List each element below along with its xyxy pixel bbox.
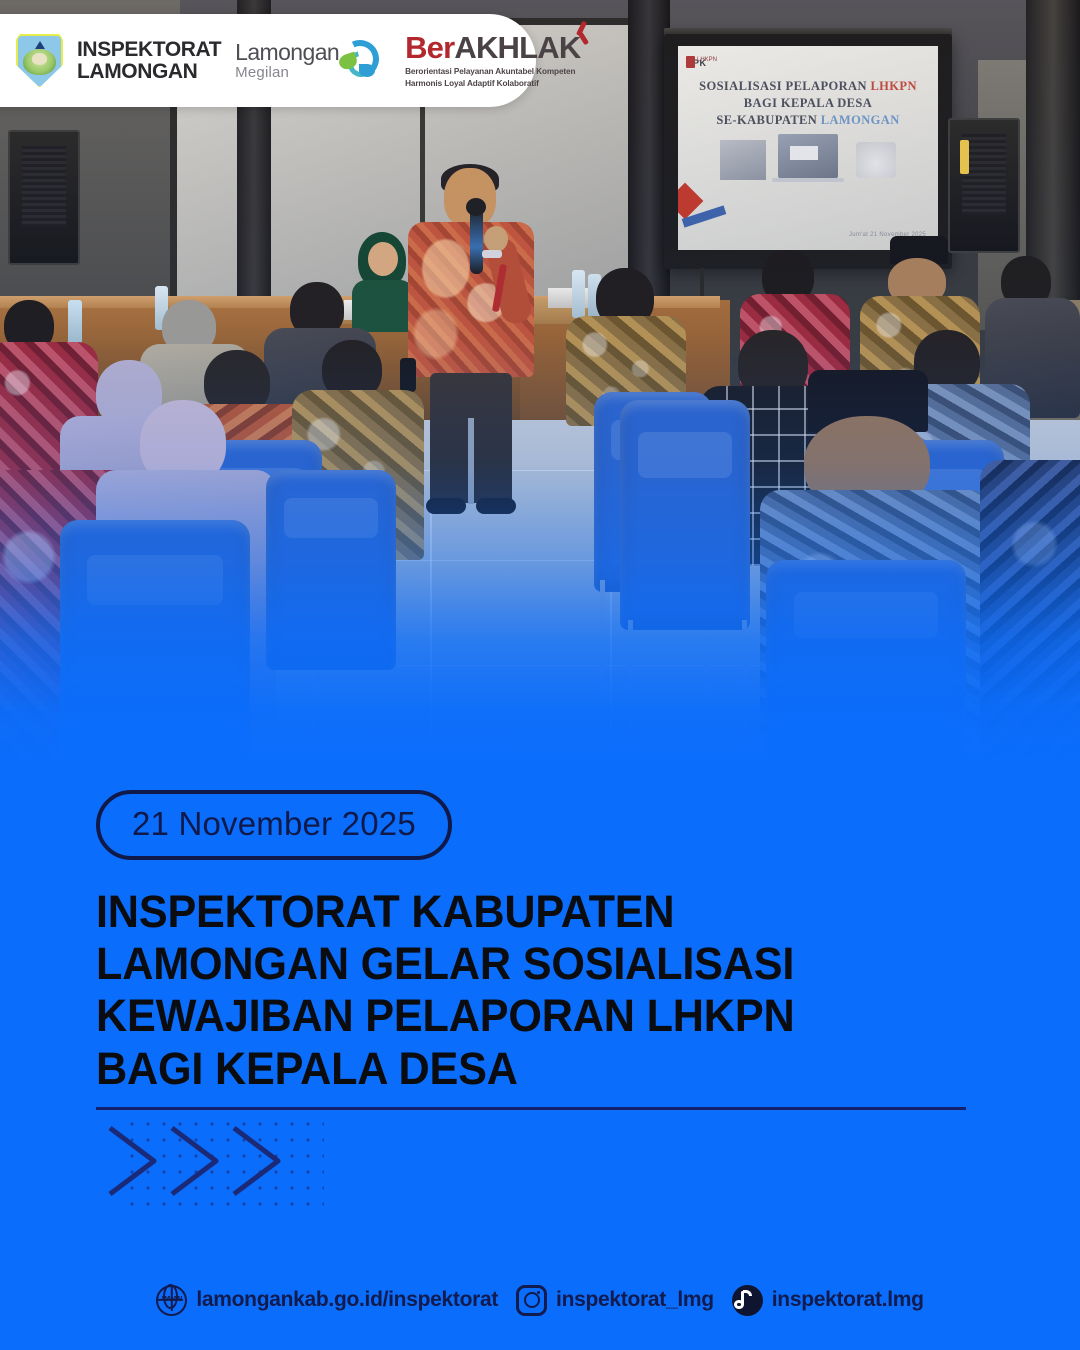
- lamongan-tagline: Megilan: [235, 65, 339, 80]
- triple-chevron-right-icon: [104, 1120, 334, 1202]
- slide-title-l3b: LAMONGAN: [821, 113, 900, 127]
- lamongan-megilan-logo: Lamongan Megilan: [235, 38, 383, 84]
- instagram-label: inspektorat_lmg: [556, 1288, 714, 1312]
- berakhlak-sub-line-1: Berorientasi Pelayanan Akuntabel Kompete…: [405, 66, 580, 77]
- footer-item-tiktok[interactable]: inspektorat.lmg: [732, 1285, 924, 1316]
- projector-screen: KPK LHKPN SOSIALISASI PELAPORAN LHKPN BA…: [678, 46, 938, 250]
- slide-title-l1b: LHKPN: [870, 79, 916, 93]
- speaker-box-right: [948, 118, 1020, 253]
- headline-line-4: BAGI KEPALA DESA: [96, 1043, 960, 1095]
- brand-header-card: INSPEKTORAT LAMONGAN Lamongan Megilan Be…: [0, 14, 536, 107]
- social-footer: WWW lamongankab.go.id/inspektorat inspek…: [0, 1278, 1080, 1322]
- lamongan-regency-emblem-icon: [16, 34, 63, 88]
- poster-canvas: KPK LHKPN SOSIALISASI PELAPORAN LHKPN BA…: [0, 0, 1080, 1350]
- slide-title: SOSIALISASI PELAPORAN LHKPN BAGI KEPALA …: [678, 78, 938, 129]
- berakhlak-logo: BerAKHLAK Berorientasi Pelayanan Akuntab…: [405, 32, 580, 88]
- instagram-icon: [516, 1285, 547, 1316]
- check-tick-icon: [579, 21, 596, 42]
- inspektorat-wordmark: INSPEKTORAT LAMONGAN: [77, 39, 221, 82]
- audience-member: [566, 268, 686, 408]
- headline-block: 21 November 2025 INSPEKTORAT KABUPATEN L…: [0, 790, 1080, 1095]
- event-photo: KPK LHKPN SOSIALISASI PELAPORAN LHKPN BA…: [0, 0, 1080, 800]
- tiktok-icon: [732, 1285, 763, 1316]
- lamongan-name: Lamongan: [235, 41, 339, 64]
- tiktok-label: inspektorat.lmg: [772, 1288, 924, 1312]
- date-badge: 21 November 2025: [96, 790, 452, 860]
- slide-title-l2: BAGI KEPALA DESA: [744, 96, 872, 110]
- headline-line-2: LAMONGAN GELAR SOSIALISASI: [96, 938, 960, 990]
- slide-logo-lhkpn: LHKPN: [697, 57, 717, 63]
- footer-item-website[interactable]: WWW lamongankab.go.id/inspektorat: [156, 1285, 498, 1316]
- headline-line-3: KEWAJIBAN PELAPORAN LHKPN: [96, 990, 960, 1042]
- lamongan-wave-fish-logo-icon: [337, 38, 383, 84]
- main-speaker: [408, 168, 534, 518]
- inspektorat-line-2: LAMONGAN: [77, 61, 221, 83]
- berakhlak-part-2: AKHLAK: [454, 30, 580, 65]
- website-label: lamongankab.go.id/inspektorat: [196, 1288, 498, 1312]
- inspektorat-line-1: INSPEKTORAT: [77, 39, 221, 61]
- berakhlak-part-1: Ber: [405, 30, 454, 65]
- slide-title-l1a: SOSIALISASI PELAPORAN: [699, 79, 870, 93]
- footer-item-instagram[interactable]: inspektorat_lmg: [516, 1285, 714, 1316]
- divider: [96, 1107, 966, 1110]
- globe-www-icon: WWW: [156, 1285, 187, 1316]
- berakhlak-sub-line-2: Harmonis Loyal Adaptif Kolaboratif: [405, 78, 580, 89]
- slide-title-l3a: SE-KABUPATEN: [716, 113, 820, 127]
- page-title: INSPEKTORAT KABUPATEN LAMONGAN GELAR SOS…: [96, 886, 996, 1095]
- headline-line-1: INSPEKTORAT KABUPATEN: [96, 886, 960, 938]
- speaker-box-left: [8, 130, 80, 265]
- audience-member: [980, 420, 1080, 760]
